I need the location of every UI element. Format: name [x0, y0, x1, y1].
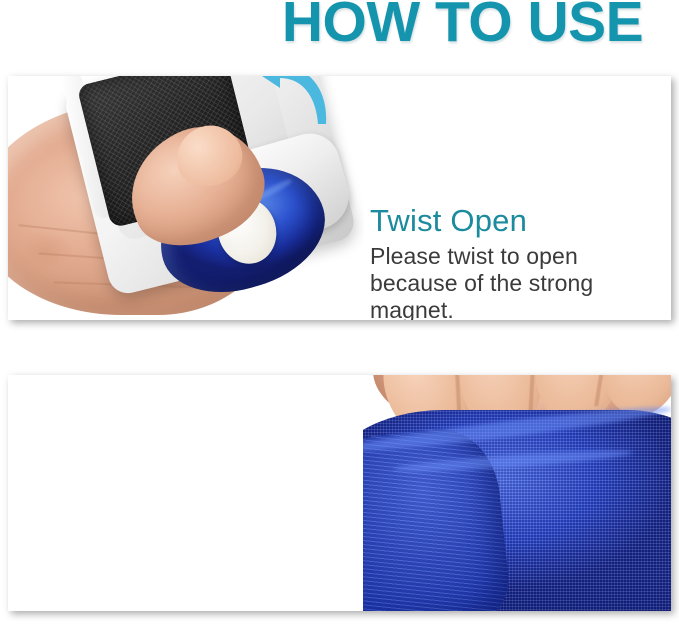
step-1-text: Twist Open Please twist to open because …: [370, 204, 670, 320]
step-1-body-line-3: magnet.: [370, 297, 670, 320]
twist-arrow-icon: [248, 76, 338, 130]
step-1-body-line-1: Please twist to open: [370, 243, 670, 270]
infographic-root: HOW TO USE: [0, 0, 679, 631]
step-card-twist-open: Twist Open Please twist to open because …: [8, 76, 671, 320]
step-1-heading: Twist Open: [370, 204, 670, 238]
step-1-body-line-2: because of the strong: [370, 270, 670, 297]
page-title: HOW TO USE: [250, 0, 675, 51]
step-1-photo: [8, 76, 364, 320]
step-2-photo: [363, 375, 671, 611]
step-card-sharp-blade: Sharp Blade Wrap it up with a thick towe…: [8, 375, 671, 611]
